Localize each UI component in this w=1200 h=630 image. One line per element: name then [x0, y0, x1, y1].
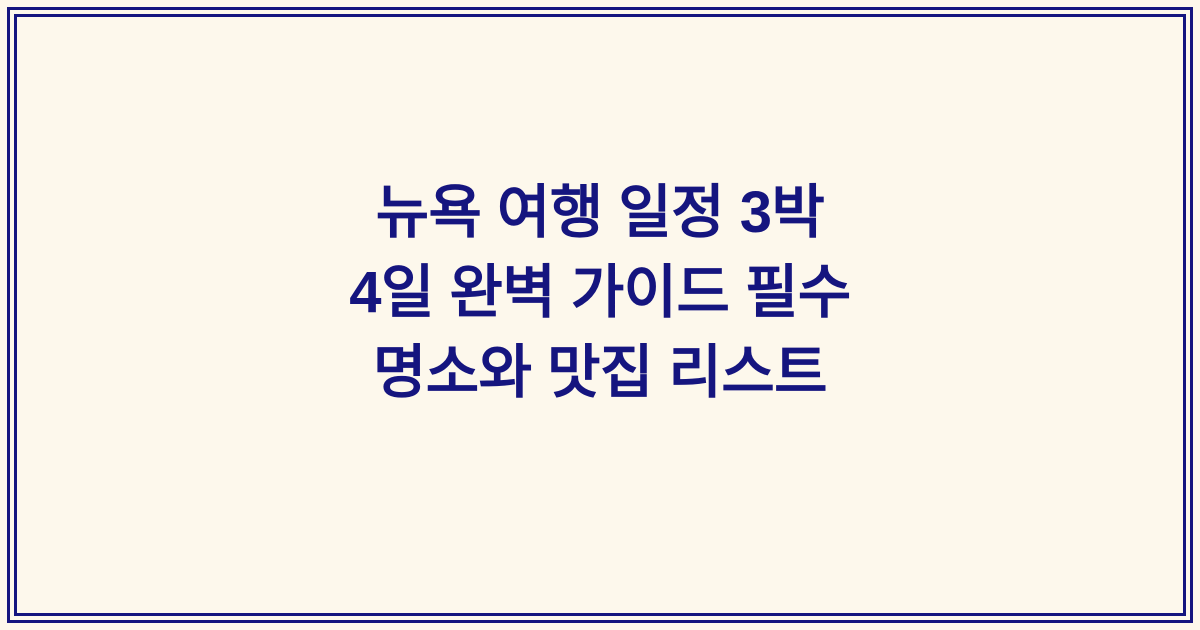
title-line-3: 명소와 맛집 리스트: [373, 340, 827, 405]
page-title: 뉴욕 여행 일정 3박4일 완벽 가이드 필수명소와 맛집 리스트: [167, 173, 1033, 413]
title-line-1: 뉴욕 여행 일정 3박: [376, 180, 825, 245]
inner-border-frame: 뉴욕 여행 일정 3박4일 완벽 가이드 필수명소와 맛집 리스트: [14, 14, 1186, 616]
title-block: 뉴욕 여행 일정 3박4일 완벽 가이드 필수명소와 맛집 리스트: [17, 173, 1183, 457]
title-card: 뉴욕 여행 일정 3박4일 완벽 가이드 필수명소와 맛집 리스트: [0, 0, 1200, 630]
title-line-2: 4일 완벽 가이드 필수: [349, 260, 850, 325]
outer-border-frame: 뉴욕 여행 일정 3박4일 완벽 가이드 필수명소와 맛집 리스트: [7, 7, 1193, 623]
